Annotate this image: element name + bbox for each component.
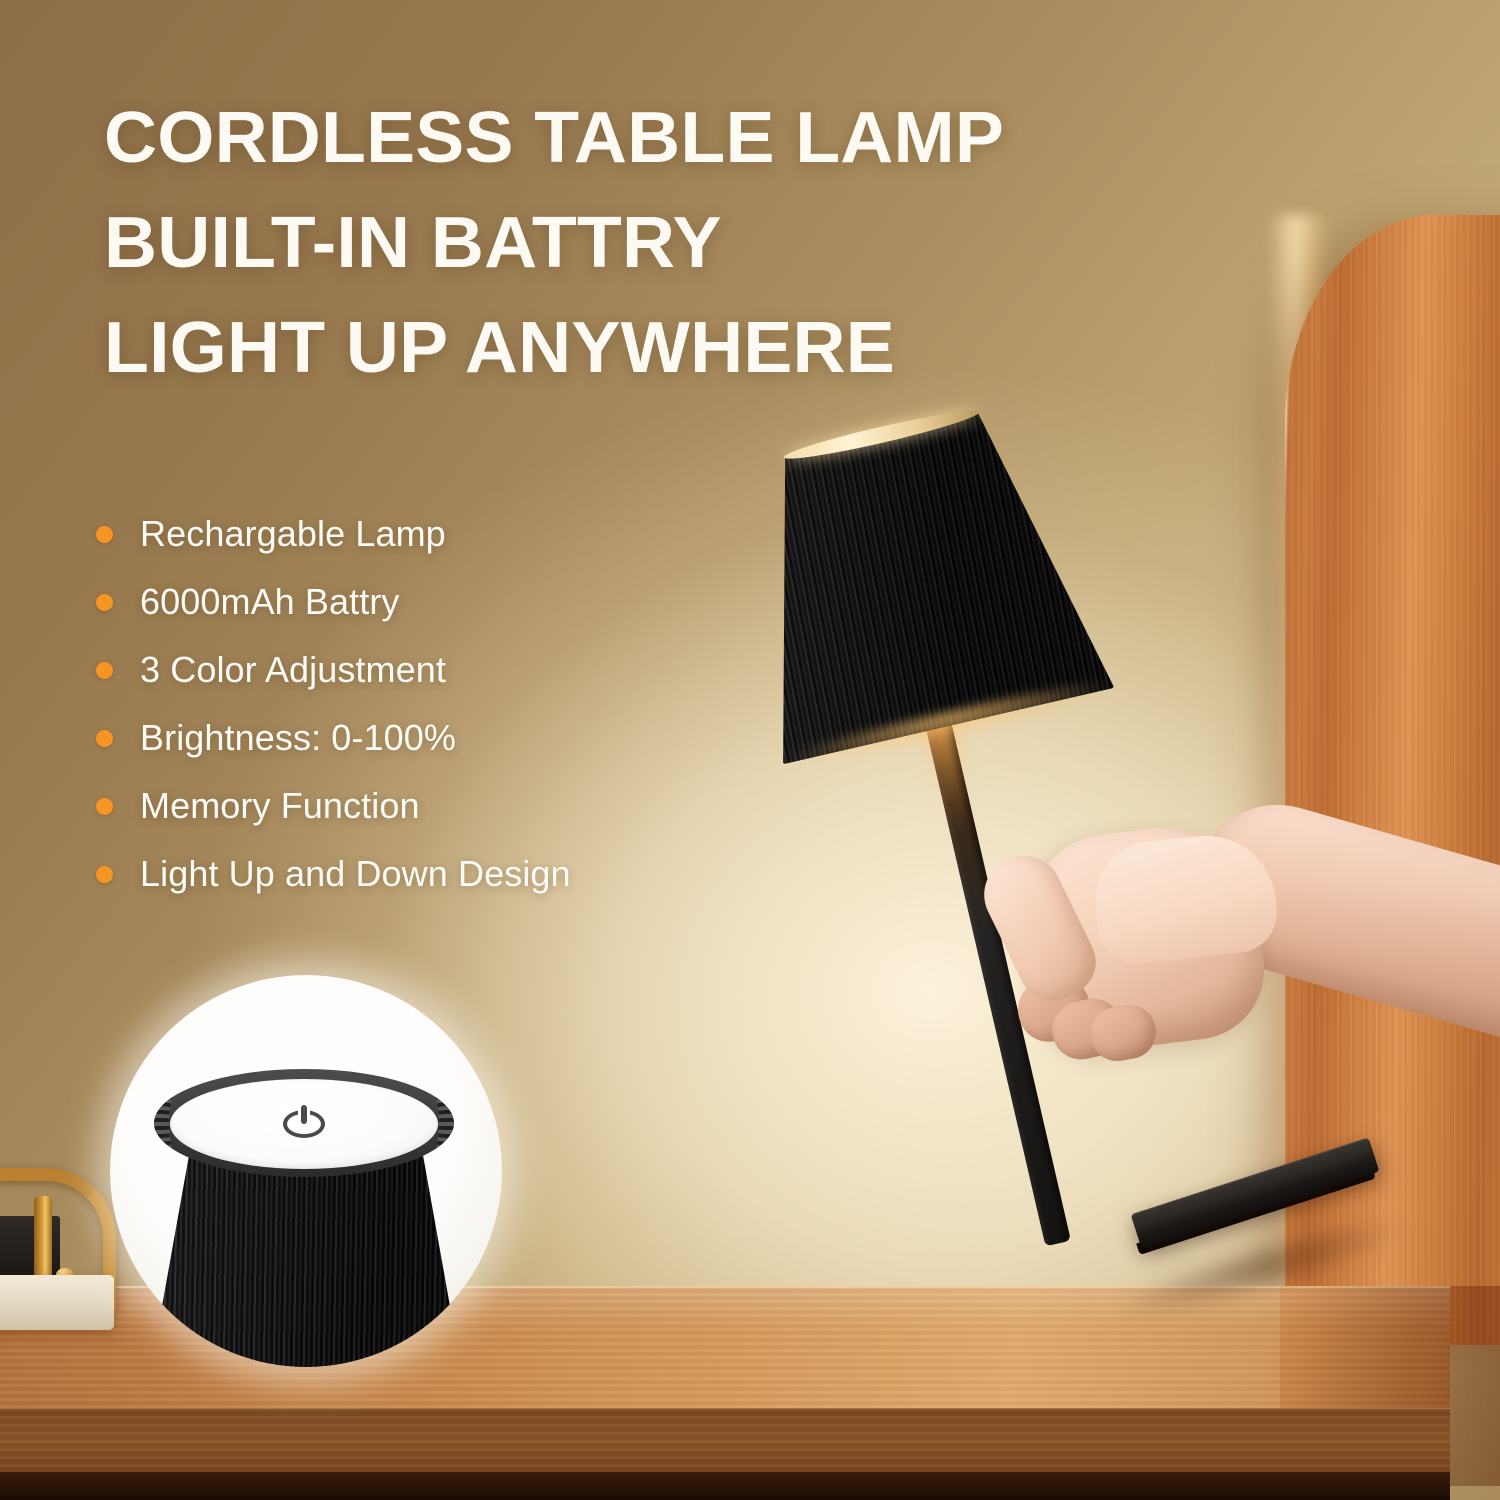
list-item: Brightness: 0-100% <box>96 704 736 772</box>
feature-list: Rechargable Lamp 6000mAh Battry 3 Color … <box>96 500 736 908</box>
list-item: Rechargable Lamp <box>96 500 736 568</box>
feature-label: 6000mAh Battry <box>140 581 400 623</box>
bullet-dot-icon <box>96 526 113 543</box>
bullet-dot-icon <box>96 662 113 679</box>
feature-label: Memory Function <box>140 785 420 827</box>
list-item: Memory Function <box>96 772 736 840</box>
page-title: CORDLESS TABLE LAMP BUILT-IN BATTRY LIGH… <box>104 86 1124 401</box>
feature-label: Rechargable Lamp <box>140 513 446 555</box>
list-item: 6000mAh Battry <box>96 568 736 636</box>
power-icon-bar <box>301 1105 307 1124</box>
feature-label: Brightness: 0-100% <box>140 717 456 759</box>
headline-line-1: CORDLESS TABLE LAMP <box>104 86 1124 191</box>
headline-line-3: LIGHT UP ANYWHERE <box>104 296 1124 401</box>
power-icon[interactable] <box>283 1110 325 1138</box>
bullet-dot-icon <box>96 866 113 883</box>
inset-detail-circle <box>110 975 502 1367</box>
headline-line-2: BUILT-IN BATTRY <box>104 191 1124 296</box>
list-item: Light Up and Down Design <box>96 840 736 908</box>
bullet-dot-icon <box>96 730 113 747</box>
lamp-base-closeup <box>140 1033 472 1367</box>
feature-label: 3 Color Adjustment <box>140 649 446 691</box>
feature-label: Light Up and Down Design <box>140 853 571 895</box>
base-diffuser-top <box>170 1079 438 1169</box>
product-marketing-image: CORDLESS TABLE LAMP BUILT-IN BATTRY LIGH… <box>0 0 1500 1500</box>
list-item: 3 Color Adjustment <box>96 636 736 704</box>
bullet-dot-icon <box>96 798 113 815</box>
bullet-dot-icon <box>96 594 113 611</box>
